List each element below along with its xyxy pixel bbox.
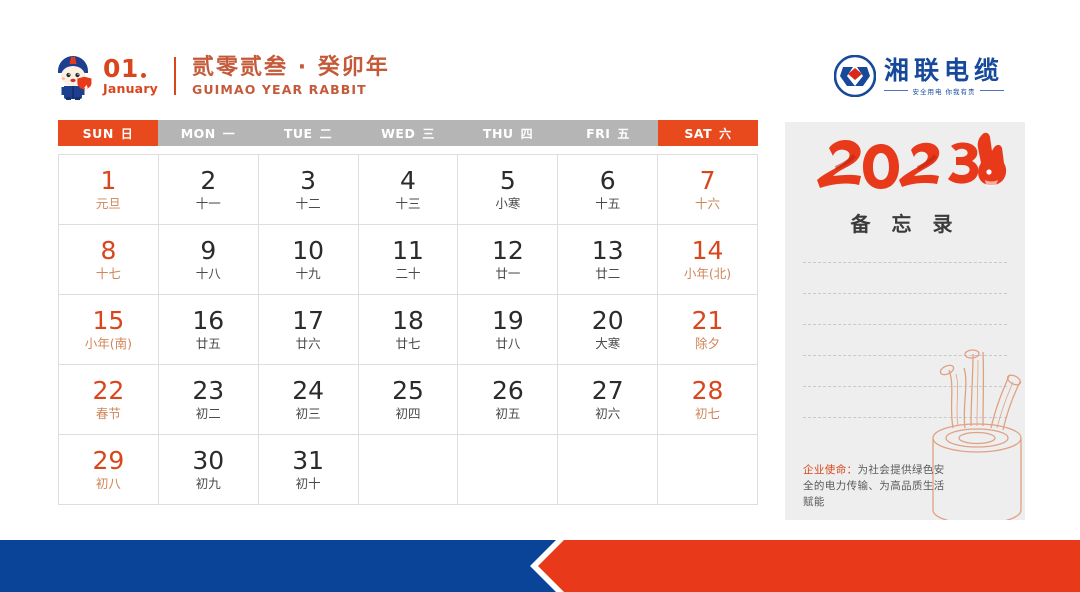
calendar-day-cell[interactable]: 5小寒 [458,155,558,225]
weekday-header-en: SAT [684,126,712,141]
weekday-header-sun: SUN日 [58,120,158,146]
day-lunar-label: 廿二 [595,266,620,282]
weekday-header-en: SUN [83,126,114,141]
weekday-header-cn: 五 [617,125,630,142]
day-lunar-label: 初七 [695,406,720,422]
day-lunar-label: 十五 [595,196,620,212]
day-number: 27 [592,377,624,405]
weekday-header-cn: 六 [719,125,732,142]
calendar-day-cell[interactable]: 13廿二 [558,225,658,295]
day-lunar-label: 初八 [96,476,121,492]
calendar-day-cell[interactable]: 19廿八 [458,295,558,365]
weekday-header-sat: SAT六 [658,120,758,146]
company-tagline-row: 安全用电 你我有责 [884,86,1004,96]
day-number: 7 [700,167,716,195]
corporate-mission-text: 企业使命：为社会提供绿色安全的电力传输、为高品质生活赋能 [803,462,953,510]
weekday-header-en: THU [483,126,514,141]
weekday-header-fri: FRI五 [558,120,658,146]
company-logo-group: 湘联电缆 安全用电 你我有责 [834,55,1004,97]
weekday-header-en: TUE [284,126,313,141]
month-label-group: 01 January [103,56,158,96]
footer-left-shape [0,540,556,592]
month-number-text: 01 [103,56,139,81]
memo-panel: 备 忘 录 [785,122,1025,520]
day-lunar-label: 廿七 [395,336,420,352]
calendar-grid-container: SUN日MON一TUE二WED三THU四FRI五SAT六 1元旦2十一3十二4十… [58,120,758,505]
day-lunar-label: 十一 [196,196,221,212]
xianglian-shield-logo-icon [834,55,876,97]
calendar-day-cell[interactable]: 31初十 [259,435,359,505]
calendar-day-cell[interactable]: 1元旦 [59,155,159,225]
day-number: 28 [692,377,724,405]
day-number: 4 [400,167,416,195]
month-name: January [103,82,158,96]
weekday-header-cn: 四 [521,125,534,142]
day-number: 11 [392,237,424,265]
day-number: 1 [100,167,116,195]
lunar-year-group: 贰零贰叁 · 癸卯年 GUIMAO YEAR RABBIT [192,56,390,97]
day-number: 9 [200,237,216,265]
weekday-header-thu: THU四 [458,120,558,146]
weekday-header-en: MON [181,126,216,141]
day-lunar-label: 元旦 [96,196,121,212]
calendar-day-cell[interactable]: 21除夕 [658,295,758,365]
day-number: 25 [392,377,424,405]
weekday-header-cn: 日 [121,125,134,142]
day-number: 31 [292,447,324,475]
day-lunar-label: 廿五 [196,336,221,352]
day-number: 19 [492,307,524,335]
day-lunar-label: 初九 [196,476,221,492]
company-name-group: 湘联电缆 安全用电 你我有责 [884,57,1004,96]
header-divider [174,57,176,95]
day-lunar-label: 小寒 [495,196,520,212]
day-lunar-label: 小年(北) [684,266,731,282]
calendar-day-cell[interactable]: 24初三 [259,365,359,435]
day-lunar-label: 十二 [296,196,321,212]
day-number: 8 [100,237,116,265]
day-lunar-label: 十九 [296,266,321,282]
calendar-page: 01 January 贰零贰叁 · 癸卯年 GUIMAO YEAR RABBIT [0,0,1080,592]
memo-title: 备 忘 录 [785,208,1025,237]
calendar-day-cell[interactable]: 25初四 [359,365,459,435]
day-lunar-label: 十三 [395,196,420,212]
day-number: 22 [93,377,125,405]
calendar-day-cell[interactable]: 12廿一 [458,225,558,295]
calendar-day-cell[interactable]: 30初九 [159,435,259,505]
brush-rabbit-2023-icon [785,128,1025,206]
day-number: 20 [592,307,624,335]
footer-decorative-bar [0,540,1080,592]
weekday-header-en: WED [381,126,415,141]
day-number: 6 [600,167,616,195]
day-number: 12 [492,237,524,265]
memo-note-line[interactable] [803,262,1007,263]
day-lunar-label: 初六 [595,406,620,422]
calendar-day-cell[interactable]: 8十七 [59,225,159,295]
day-number: 17 [292,307,324,335]
day-lunar-label: 廿八 [495,336,520,352]
day-lunar-label: 初五 [495,406,520,422]
calendar-cell-empty [658,435,758,505]
company-name-cn: 湘联电缆 [884,57,1004,84]
calendar-cell-empty [558,435,658,505]
calendar-day-cell[interactable]: 28初七 [658,365,758,435]
calendar-day-cell[interactable]: 7十六 [658,155,758,225]
lunar-year-en: GUIMAO YEAR RABBIT [192,82,390,97]
month-dot-icon [141,73,146,78]
calendar-day-cell[interactable]: 29初八 [59,435,159,505]
day-number: 21 [692,307,724,335]
calendar-day-cell[interactable]: 17廿六 [259,295,359,365]
company-tagline: 安全用电 你我有责 [908,86,979,96]
weekday-header-mon: MON一 [158,120,258,146]
calendar-cell-empty [458,435,558,505]
memo-note-line[interactable] [803,293,1007,294]
month-brand-group: 01 January 贰零贰叁 · 癸卯年 GUIMAO YEAR RABBIT [50,52,390,100]
weekday-header-cn: 二 [320,125,333,142]
weekday-header-wed: WED三 [358,120,458,146]
day-lunar-label: 二十 [395,266,420,282]
day-lunar-label: 十六 [695,196,720,212]
day-lunar-label: 小年(南) [85,336,132,352]
day-number: 14 [692,237,724,265]
day-number: 29 [93,447,125,475]
day-number: 3 [300,167,316,195]
weekday-header-cn: 三 [422,125,435,142]
month-number: 01 [103,56,158,81]
calendar-day-cell[interactable]: 16廿五 [159,295,259,365]
footer-right-shape [538,540,1080,592]
day-lunar-label: 初三 [296,406,321,422]
calendar-day-cell[interactable]: 6十五 [558,155,658,225]
day-number: 30 [192,447,224,475]
day-number: 26 [492,377,524,405]
weekday-header-row: SUN日MON一TUE二WED三THU四FRI五SAT六 [58,120,758,146]
day-lunar-label: 廿六 [296,336,321,352]
day-lunar-label: 春节 [96,406,121,422]
weekday-header-cn: 一 [223,125,236,142]
calendar-day-cell[interactable]: 20大寒 [558,295,658,365]
day-lunar-label: 十七 [96,266,121,282]
tagline-rule-left [884,90,908,91]
tagline-rule-right [980,90,1004,91]
day-number: 10 [292,237,324,265]
day-number: 2 [200,167,216,195]
safety-mascot-icon [50,52,96,100]
day-number: 16 [192,307,224,335]
day-number: 24 [292,377,324,405]
day-lunar-label: 初四 [395,406,420,422]
weekday-header-en: FRI [586,126,610,141]
calendar-cell-empty [359,435,459,505]
day-lunar-label: 十八 [196,266,221,282]
calendar-day-cell[interactable]: 4十三 [359,155,459,225]
calendar-day-cell[interactable]: 11二十 [359,225,459,295]
day-lunar-label: 初二 [196,406,221,422]
lunar-year-cn: 贰零贰叁 · 癸卯年 [192,56,390,80]
calendar-day-cell[interactable]: 10十九 [259,225,359,295]
calendar-day-cell[interactable]: 22春节 [59,365,159,435]
day-number: 18 [392,307,424,335]
calendar-day-cell[interactable]: 9十八 [159,225,259,295]
day-lunar-label: 除夕 [695,336,720,352]
day-number: 13 [592,237,624,265]
day-number: 5 [500,167,516,195]
day-lunar-label: 大寒 [595,336,620,352]
calendar-day-cell[interactable]: 23初二 [159,365,259,435]
day-lunar-label: 廿一 [495,266,520,282]
calendar-day-cell[interactable]: 3十二 [259,155,359,225]
calendar-day-cell[interactable]: 26初五 [458,365,558,435]
calendar-day-cell[interactable]: 15小年(南) [59,295,159,365]
calendar-day-cell[interactable]: 27初六 [558,365,658,435]
weekday-header-tue: TUE二 [258,120,358,146]
calendar-day-cell[interactable]: 2十一 [159,155,259,225]
day-number: 15 [93,307,125,335]
day-lunar-label: 初十 [296,476,321,492]
mission-label: 企业使命： [803,464,858,476]
day-number: 23 [192,377,224,405]
calendar-day-cell[interactable]: 18廿七 [359,295,459,365]
calendar-days-grid: 1元旦2十一3十二4十三5小寒6十五7十六8十七9十八10十九11二十12廿一1… [58,154,758,505]
page-header: 01 January 贰零贰叁 · 癸卯年 GUIMAO YEAR RABBIT [0,0,1080,118]
calendar-day-cell[interactable]: 14小年(北) [658,225,758,295]
